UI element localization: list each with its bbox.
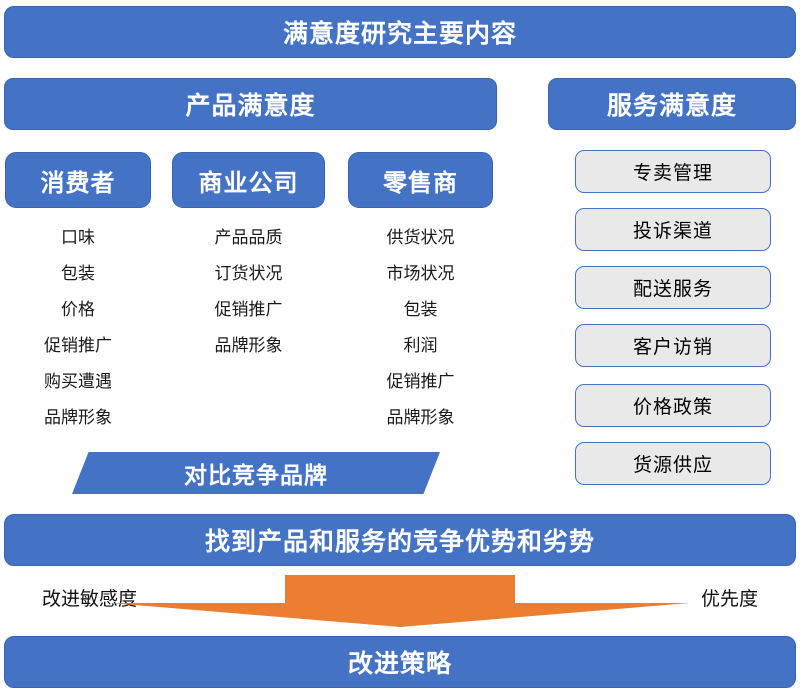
service-item-1: 投诉渠道 — [575, 208, 771, 251]
service-item-2: 配送服务 — [575, 266, 771, 309]
list-item: 包装 — [5, 256, 151, 292]
list-item: 利润 — [348, 328, 493, 364]
service-item-4: 价格政策 — [575, 384, 771, 427]
list-item: 品牌形象 — [5, 400, 151, 436]
list-item: 口味 — [5, 220, 151, 256]
column-header-consumer: 消费者 — [5, 152, 151, 208]
main-title-banner: 满意度研究主要内容 — [4, 6, 796, 58]
service-item-5: 货源供应 — [575, 442, 771, 485]
column-header-commercial-company: 商业公司 — [172, 152, 325, 208]
list-item: 品牌形象 — [348, 400, 493, 436]
column-list-commercial-company: 产品品质 订货状况 促销推广 品牌形象 — [172, 220, 325, 364]
list-item: 包装 — [348, 292, 493, 328]
findings-banner: 找到产品和服务的竞争优势和劣势 — [4, 514, 796, 566]
list-item: 促销推广 — [5, 328, 151, 364]
service-satisfaction-header: 服务满意度 — [548, 78, 796, 130]
list-item: 购买遭遇 — [5, 364, 151, 400]
list-item: 订货状况 — [172, 256, 325, 292]
column-header-retailer: 零售商 — [348, 152, 493, 208]
list-item: 品牌形象 — [172, 328, 325, 364]
list-item: 促销推广 — [172, 292, 325, 328]
list-item: 市场状况 — [348, 256, 493, 292]
column-list-retailer: 供货状况 市场状况 包装 利润 促销推广 品牌形象 — [348, 220, 493, 436]
list-item: 价格 — [5, 292, 151, 328]
list-item: 产品品质 — [172, 220, 325, 256]
column-list-consumer: 口味 包装 价格 促销推广 购买遭遇 品牌形象 — [5, 220, 151, 436]
improvement-strategy-banner: 改进策略 — [4, 636, 796, 688]
service-item-0: 专卖管理 — [575, 150, 771, 193]
product-satisfaction-header: 产品满意度 — [4, 78, 497, 130]
list-item: 促销推广 — [348, 364, 493, 400]
compare-competing-brands-banner: 对比竞争品牌 — [72, 452, 440, 494]
arrow-row: 改进敏感度 优先度 — [0, 572, 800, 630]
arrow-label-right: 优先度 — [701, 584, 758, 611]
diagram-canvas: 满意度研究主要内容 产品满意度 服务满意度 消费者 商业公司 零售商 口味 包装… — [0, 0, 800, 696]
service-item-3: 客户访销 — [575, 324, 771, 367]
list-item: 供货状况 — [348, 220, 493, 256]
down-arrow-icon — [110, 575, 690, 627]
